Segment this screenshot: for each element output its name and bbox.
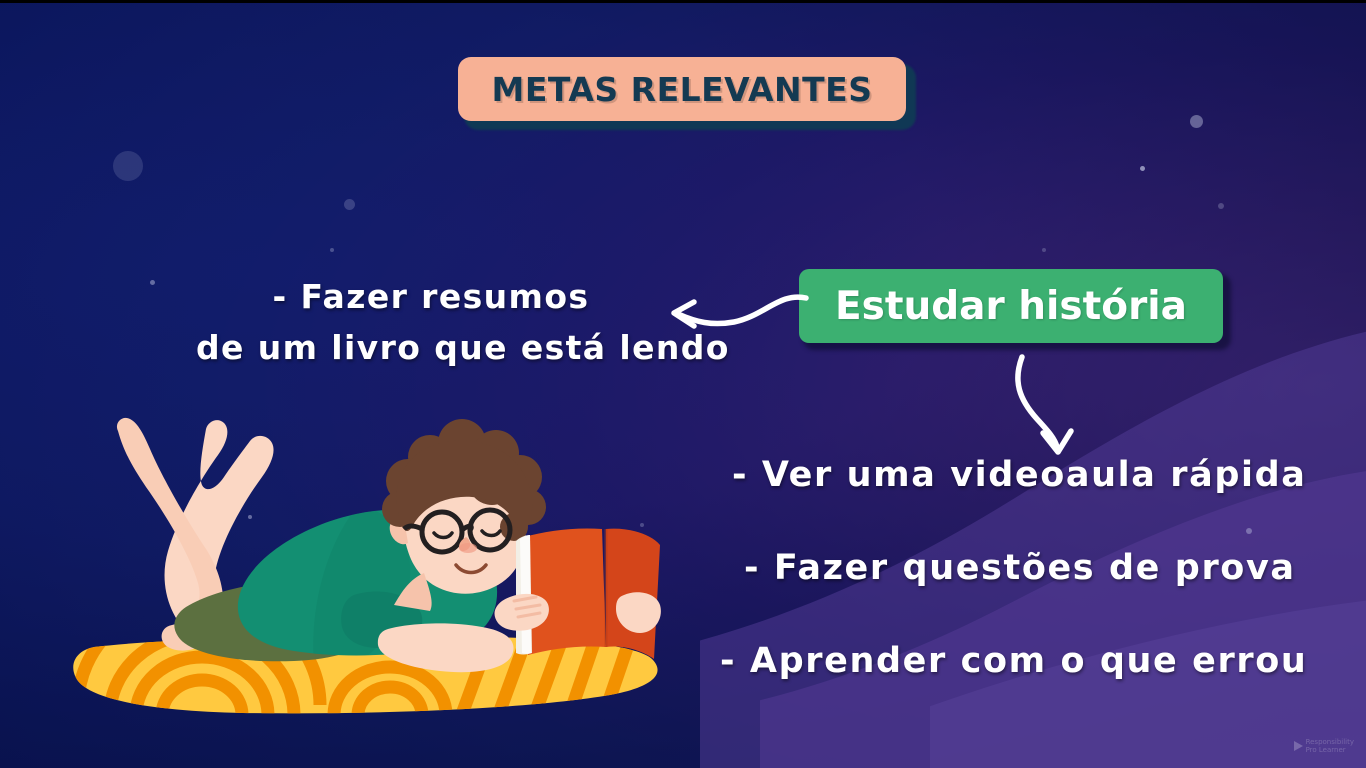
page-title: METAS RELEVANTES bbox=[492, 70, 873, 109]
goal-badge-box: Estudar história bbox=[799, 269, 1223, 343]
left-note-line-1: - Fazer resumos bbox=[196, 271, 666, 322]
left-note: - Fazer resumos de um livro que está len… bbox=[196, 271, 666, 373]
slide-canvas: METAS RELEVANTES Estudar história - Faze… bbox=[0, 0, 1366, 768]
watermark-line-1: Responsibility bbox=[1306, 738, 1354, 746]
watermark-arrow-icon bbox=[1294, 741, 1303, 751]
watermark-line-2: Pro Learner bbox=[1306, 746, 1354, 754]
bullet-item-2: - Fazer questões de prova bbox=[744, 548, 1296, 588]
watermark-text-block: Responsibility Pro Learner bbox=[1306, 738, 1354, 754]
title-badge-pill: METAS RELEVANTES bbox=[458, 57, 906, 121]
goal-badge-label: Estudar história bbox=[835, 284, 1187, 329]
bullet-item-3: - Aprender com o que errou bbox=[720, 641, 1307, 681]
left-note-line-2: de um livro que está lendo bbox=[196, 322, 666, 373]
bullet-item-1: - Ver uma videoaula rápida bbox=[732, 455, 1306, 495]
title-badge: METAS RELEVANTES bbox=[458, 57, 910, 125]
watermark: Responsibility Pro Learner bbox=[1294, 738, 1354, 754]
reading-student-illustration bbox=[58, 415, 678, 715]
goal-badge: Estudar história bbox=[799, 269, 1227, 347]
